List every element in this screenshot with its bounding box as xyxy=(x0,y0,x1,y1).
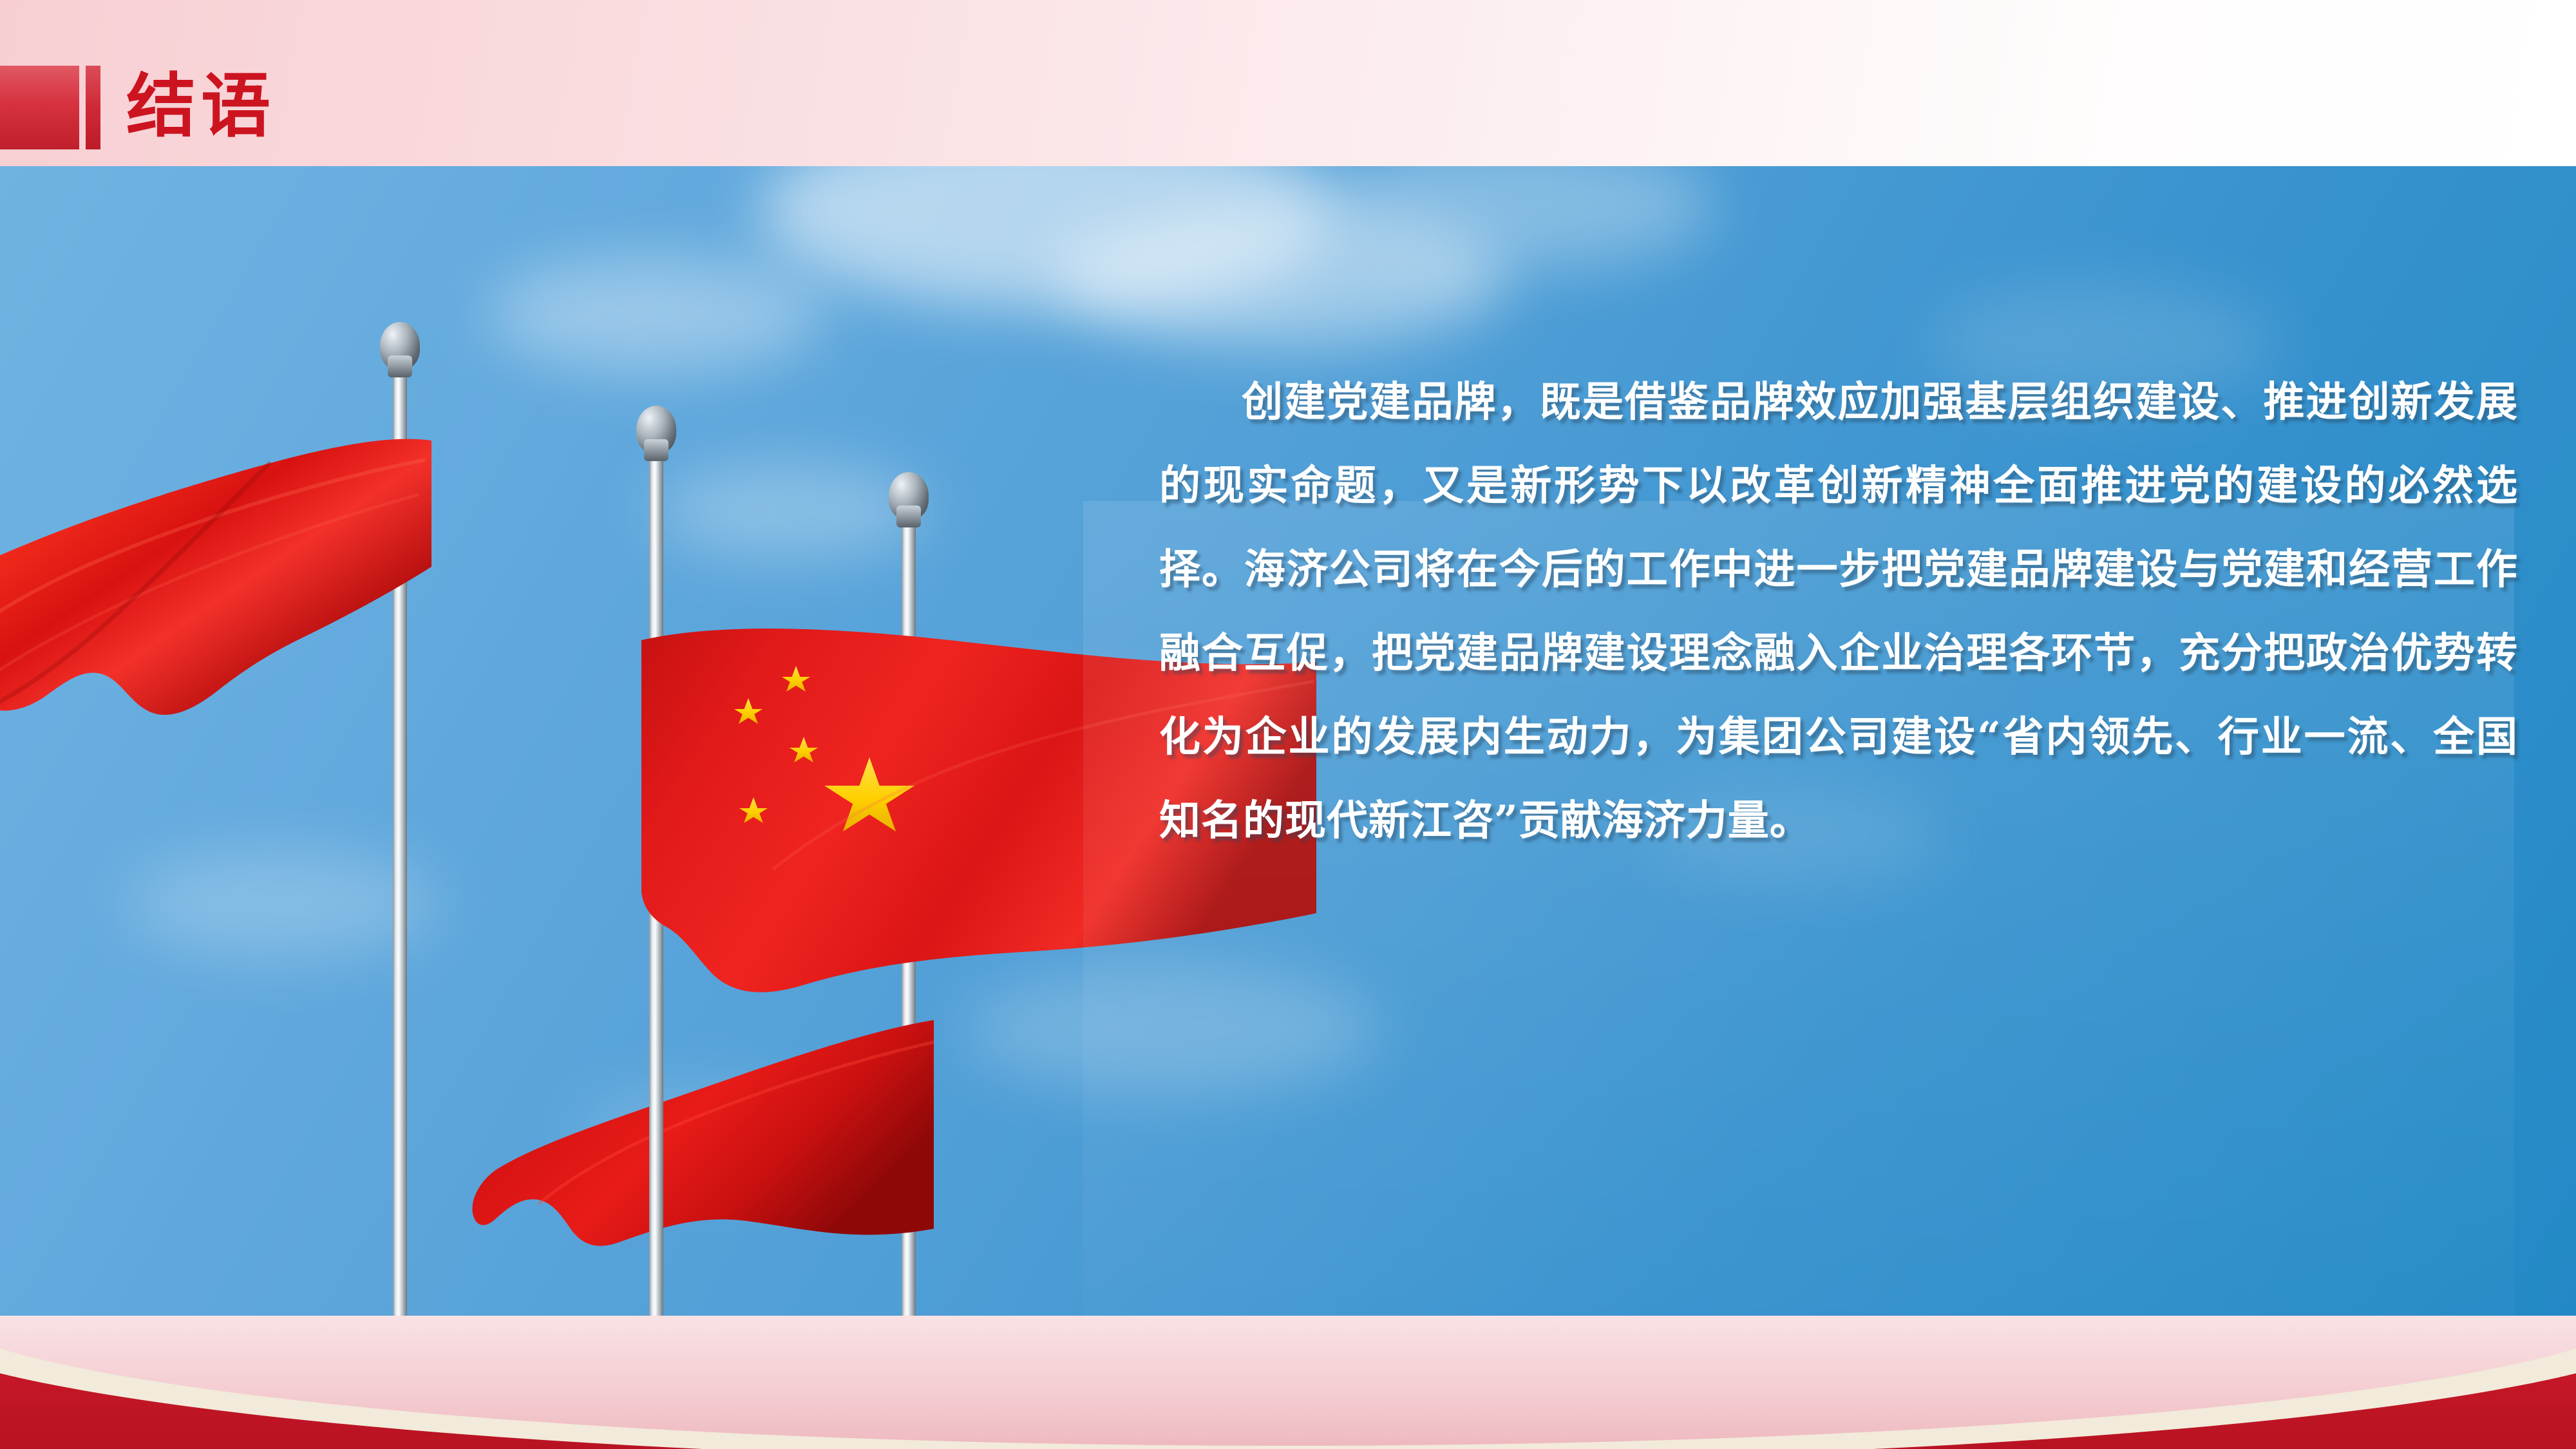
flag-plain-red-right xyxy=(444,1016,934,1287)
flagpole-finial-middle xyxy=(636,406,676,453)
slide-root: 结语 xyxy=(0,0,2576,1449)
flagpole-finial-left xyxy=(380,322,420,370)
flagpole-finial-right xyxy=(889,472,929,520)
slide-header: 结语 xyxy=(0,0,2576,166)
page-title: 结语 xyxy=(126,62,276,151)
cloud-shape xyxy=(657,462,927,559)
cloud-shape xyxy=(760,166,1340,308)
conclusion-paragraph: 创建党建品牌，既是借鉴品牌效应加强基层组织建设、推进创新发展的现实命题，又是新形… xyxy=(1159,361,2518,863)
cloud-shape xyxy=(1056,211,1507,346)
header-marker-block-thin xyxy=(86,66,100,149)
flag-plain-red-left xyxy=(0,398,438,797)
slide-footer-banner xyxy=(0,1316,2576,1449)
header-marker-block-wide xyxy=(0,66,79,149)
cloud-shape xyxy=(129,849,438,958)
cloud-shape xyxy=(489,256,824,372)
cloud-shape xyxy=(1327,166,1713,269)
